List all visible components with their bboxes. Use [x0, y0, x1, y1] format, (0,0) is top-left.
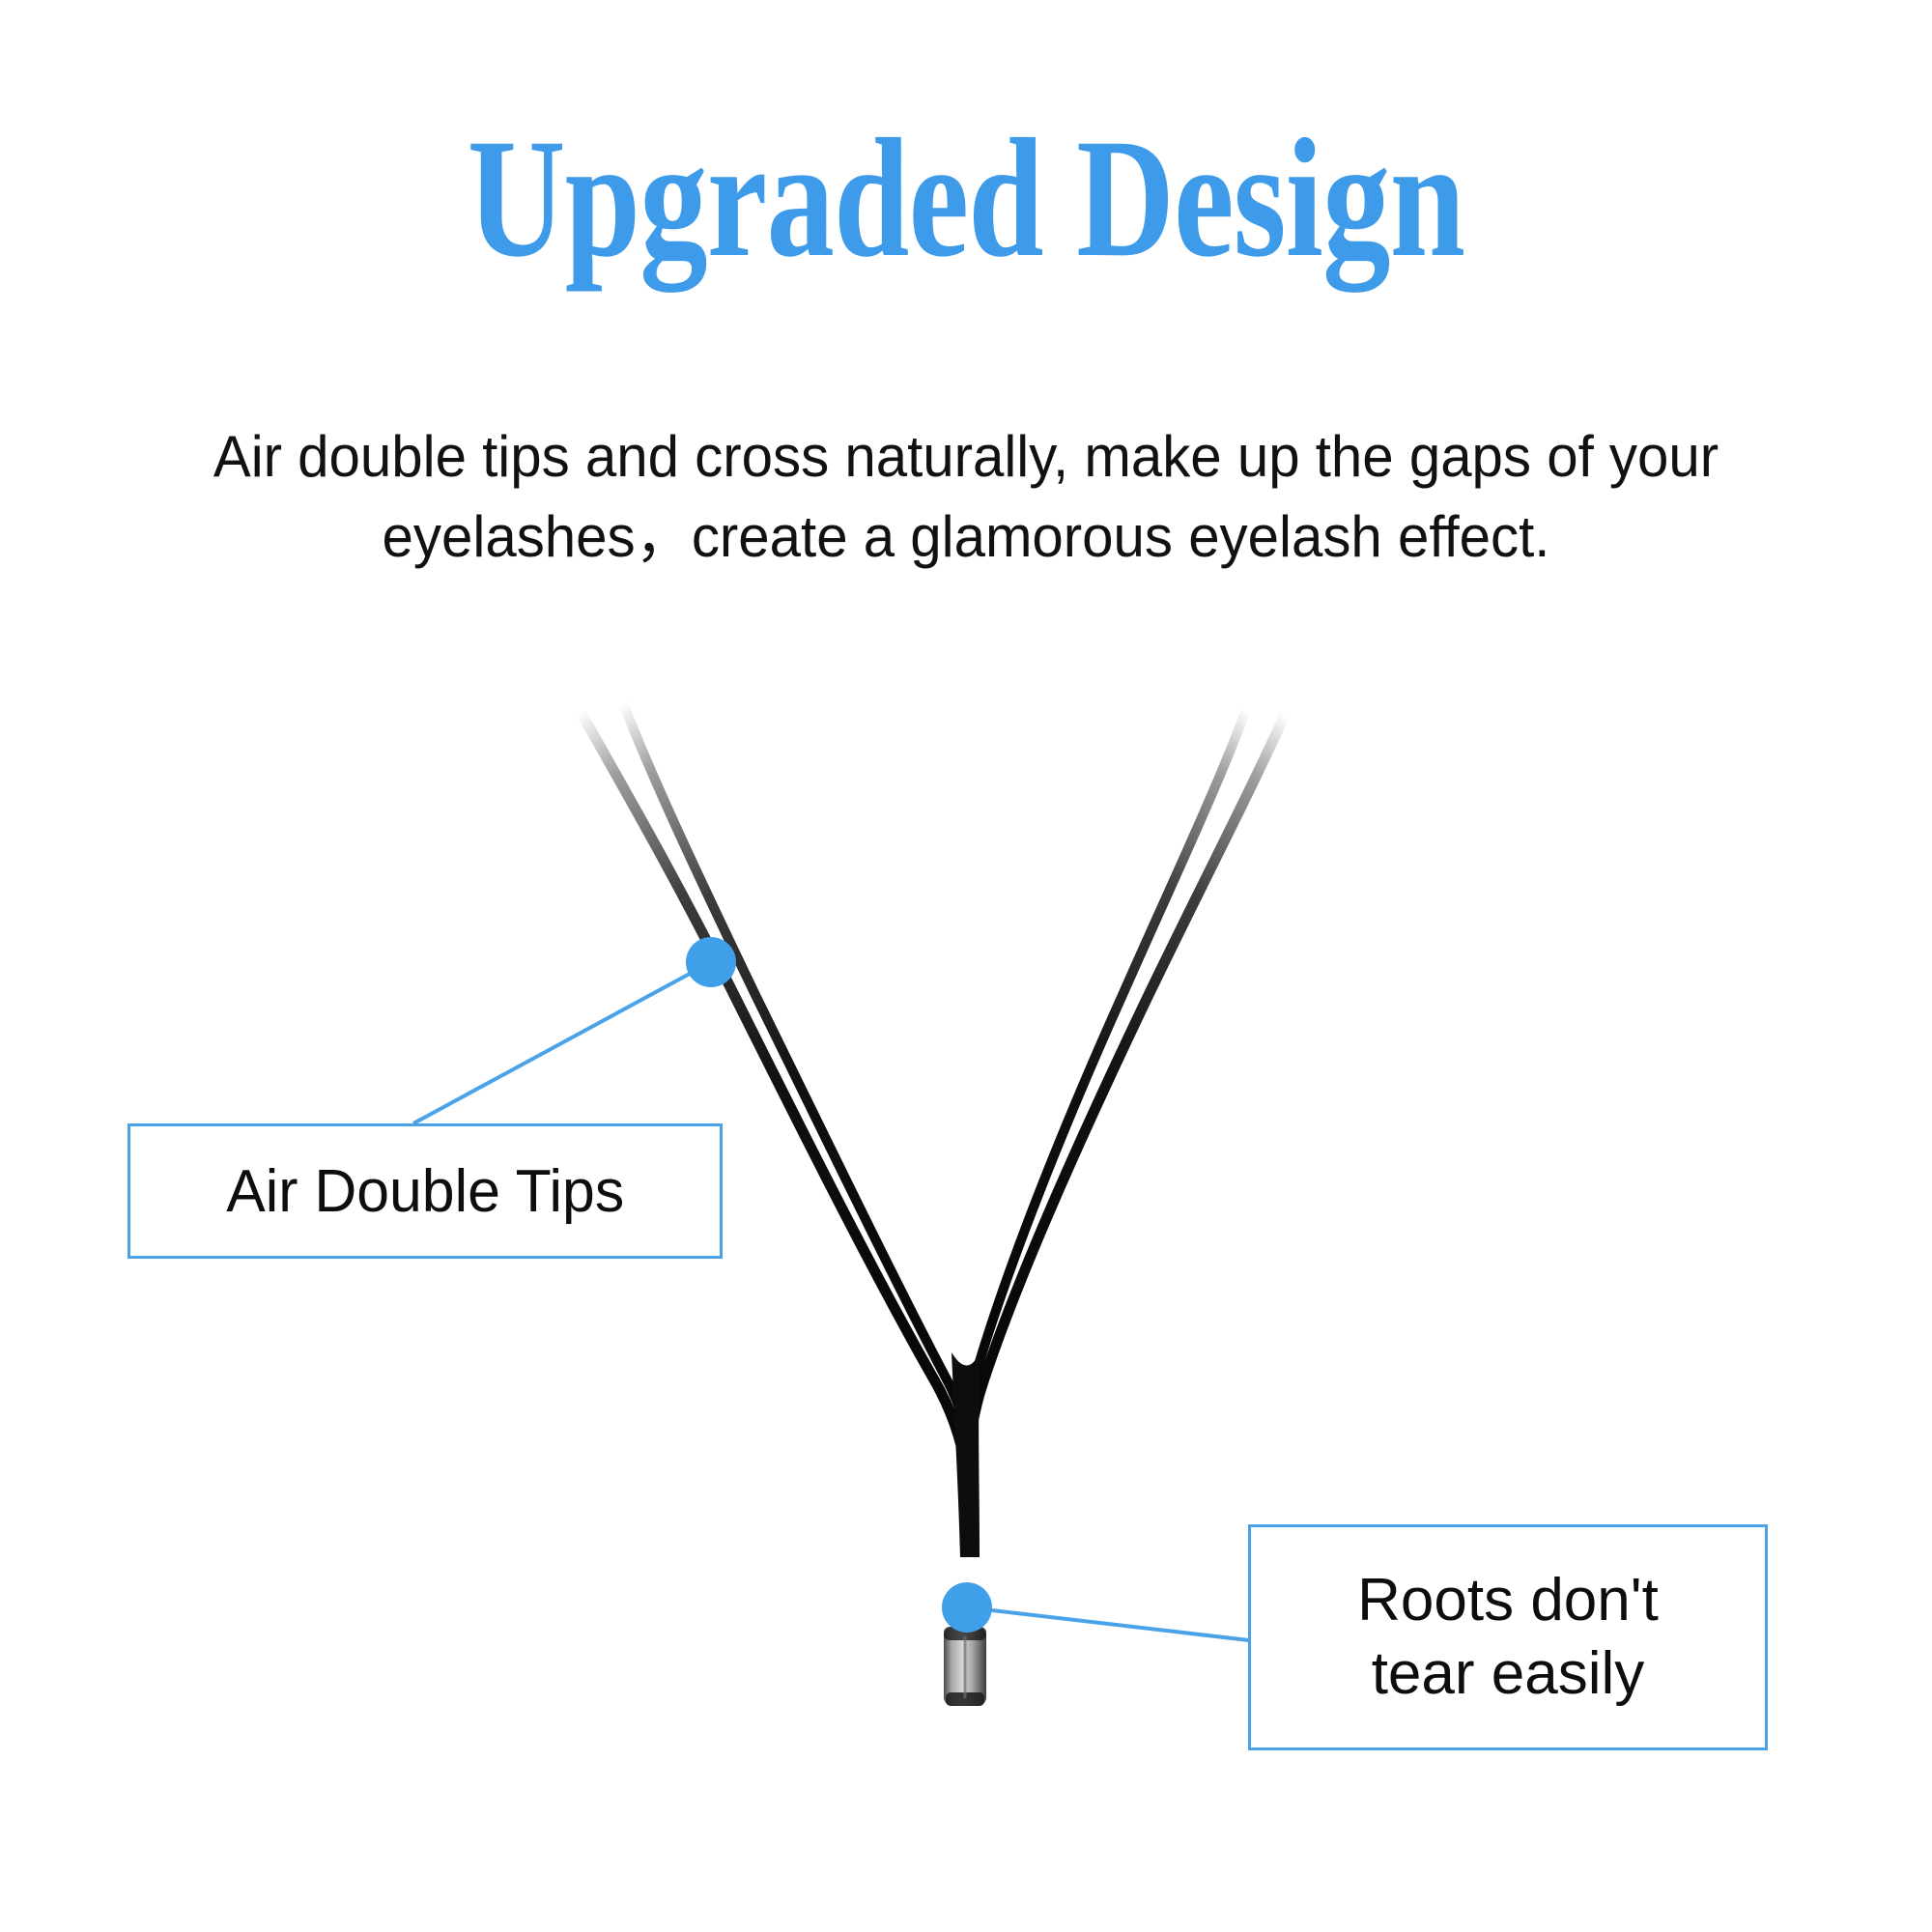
lash-root-base: [944, 1627, 986, 1706]
subtitle-line-1: Air double tips and cross naturally, mak…: [132, 417, 1801, 497]
marker-dot-roots[interactable]: [942, 1582, 992, 1633]
callout-roots-label-line-1: Roots don't: [1357, 1564, 1659, 1637]
callout-air-double-tips[interactable]: Air Double Tips: [128, 1123, 723, 1259]
lash-stem-body: [952, 1352, 980, 1557]
page-title: Upgraded Design: [193, 114, 1739, 284]
callout-roots-dont-tear-easily[interactable]: Roots don't tear easily: [1248, 1524, 1768, 1750]
lash-fiber-right-inner: [962, 710, 1246, 1468]
lash-fiber-left-inner: [623, 703, 973, 1468]
marker-dot-air-double-tips[interactable]: [686, 937, 736, 987]
callout-air-double-tips-label: Air Double Tips: [226, 1157, 624, 1226]
subtitle-text: Air double tips and cross naturally, mak…: [132, 417, 1801, 578]
callout-roots-label-wrap: Roots don't tear easily: [1357, 1564, 1659, 1710]
lash-fused-stem: [956, 1377, 976, 1555]
leader-line-air-double-tips: [413, 962, 711, 1123]
lash-root-base-bottom-edge: [946, 1692, 984, 1706]
subtitle-line-2: eyelashes，create a glamorous eyelash eff…: [132, 497, 1801, 578]
leader-line-roots: [967, 1607, 1249, 1640]
infographic-page: Upgraded Design Air double tips and cros…: [0, 0, 1932, 1932]
callout-roots-label-line-2: tear easily: [1357, 1637, 1659, 1711]
lash-fiber-right-outer: [967, 715, 1285, 1468]
lash-fiber-left-outer: [581, 712, 966, 1468]
